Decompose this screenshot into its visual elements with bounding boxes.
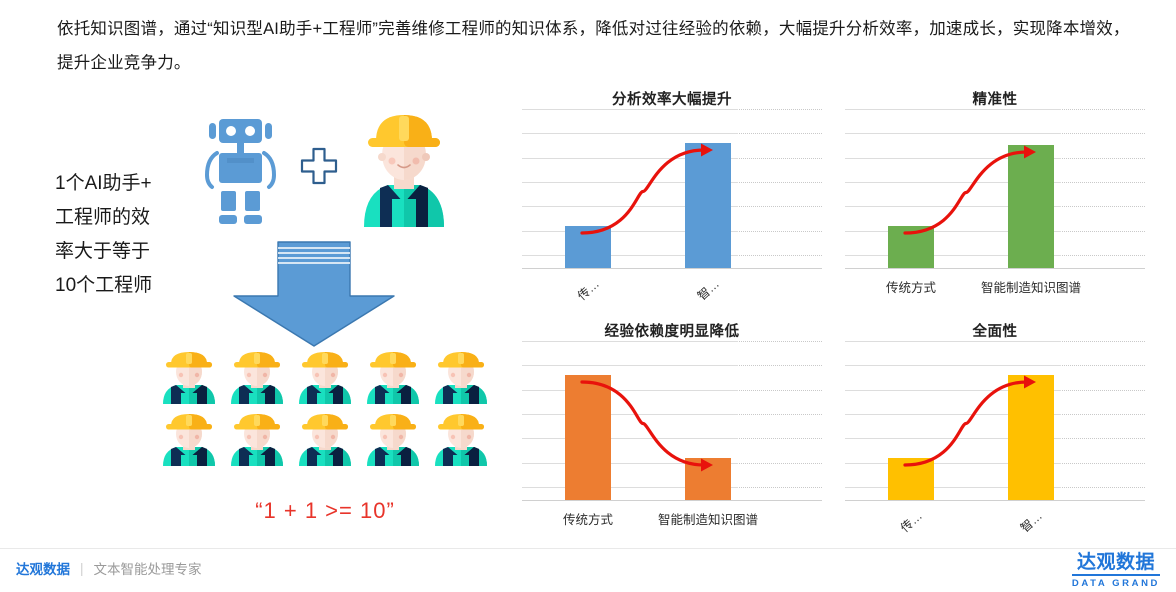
engineer-icon (358, 107, 450, 227)
category-label: 智能制造知识图谱 (981, 277, 1081, 296)
chart-title: 全面性 (845, 320, 1145, 341)
illustration-panel: 1个AI助手+ 工程师的效 率大于等于 10个工程师 (0, 95, 510, 540)
plot-area: 传统方式 智能制造知识图谱 (522, 341, 822, 541)
caption-line-2: 工程师的效 (55, 201, 205, 235)
chart-title: 经验依赖度明显降低 (522, 320, 822, 341)
worker-icon (160, 412, 218, 466)
category-axis: 传… 智… (845, 501, 1145, 541)
worker-icon (296, 350, 354, 404)
category-label: 传… (573, 275, 602, 304)
worker-icon (432, 350, 490, 404)
plot-canvas (845, 341, 1145, 501)
trend-arrow-icon (845, 109, 1145, 269)
plot-canvas (522, 109, 822, 269)
logo-english: DATA GRAND (1072, 578, 1160, 589)
footer-brand-group: 达观数据 | 文本智能处理专家 (16, 558, 202, 578)
chart-coverage: 全面性 传… 智… (845, 320, 1145, 552)
logo-chinese: 达观数据 (1072, 552, 1160, 576)
plot-area: 传… 智… (845, 341, 1145, 541)
category-label: 智… (1016, 507, 1045, 536)
slide-root: 依托知识图谱，通过“知识型AI助手+工程师”完善维修工程师的知识体系，降低对过往… (0, 0, 1176, 592)
page-title: 依托知识图谱，通过“知识型AI助手+工程师”完善维修工程师的知识体系，降低对过往… (57, 12, 1137, 80)
category-axis: 传统方式 智能制造知识图谱 (845, 269, 1145, 309)
trend-arrow-icon (845, 341, 1145, 501)
worker-icon (228, 350, 286, 404)
plot-area: 传… 智… (522, 109, 822, 309)
category-label: 传统方式 (886, 277, 936, 296)
category-axis: 传统方式 智能制造知识图谱 (522, 501, 822, 541)
plot-canvas (845, 109, 1145, 269)
trend-arrow-icon (522, 109, 822, 269)
caption-line-3: 率大于等于 (55, 235, 205, 269)
down-arrow-icon (228, 238, 400, 350)
chart-accuracy: 精准性 传统方式 智能制造知识图谱 (845, 88, 1145, 320)
worker-grid (155, 350, 495, 466)
worker-icon (228, 412, 286, 466)
footer-separator: | (80, 561, 84, 576)
plus-icon (300, 147, 338, 185)
plot-canvas (522, 341, 822, 501)
company-logo: 达观数据 DATA GRAND (1072, 552, 1160, 589)
category-label: 传统方式 (563, 509, 613, 528)
worker-icon (432, 412, 490, 466)
category-label: 智能制造知识图谱 (658, 509, 758, 528)
robot-icon (203, 113, 278, 228)
efficiency-caption: 1个AI助手+ 工程师的效 率大于等于 10个工程师 (55, 167, 205, 303)
worker-icon (364, 350, 422, 404)
worker-icon (160, 350, 218, 404)
footer-tagline: 文本智能处理专家 (94, 558, 202, 578)
chart-title: 精准性 (845, 88, 1145, 109)
plot-area: 传统方式 智能制造知识图谱 (845, 109, 1145, 309)
footer-divider (0, 548, 1176, 549)
caption-line-1: 1个AI助手+ (55, 167, 205, 201)
caption-line-4: 10个工程师 (55, 269, 205, 303)
category-label: 传… (896, 507, 925, 536)
ai-plus-engineer-group (188, 105, 478, 230)
category-axis: 传… 智… (522, 269, 822, 309)
worker-icon (296, 412, 354, 466)
trend-arrow-icon (522, 341, 822, 501)
equation-text: “1 + 1 >= 10” (155, 498, 495, 524)
category-label: 智… (693, 275, 722, 304)
chart-efficiency: 分析效率大幅提升 传… 智… (522, 88, 822, 320)
footer-brand: 达观数据 (16, 558, 70, 578)
chart-experience: 经验依赖度明显降低 传统方式 智能制造知识图谱 (522, 320, 822, 552)
chart-title: 分析效率大幅提升 (522, 88, 822, 109)
worker-icon (364, 412, 422, 466)
